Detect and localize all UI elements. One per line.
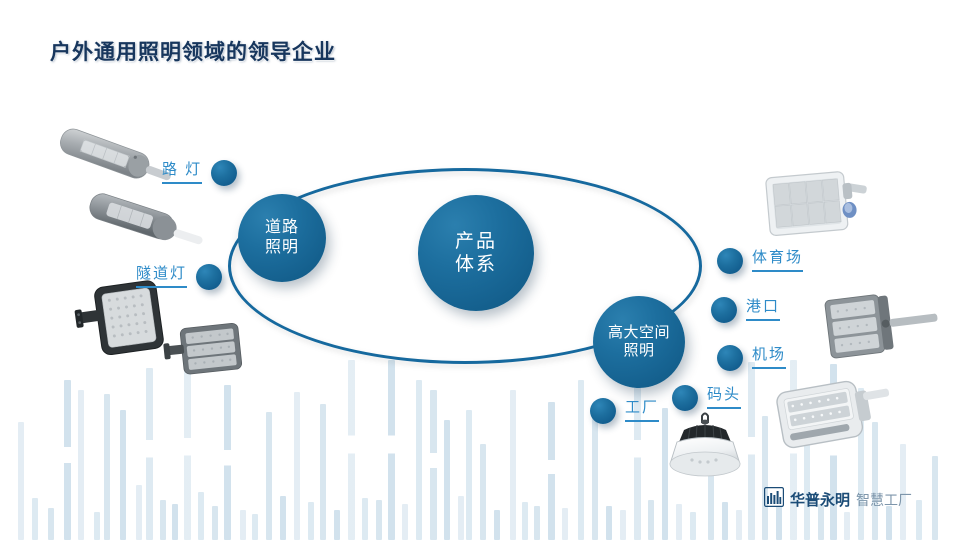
decorative-bar xyxy=(534,506,540,540)
logo-sub-text: 智慧工厂 xyxy=(856,490,912,510)
bullet-dot-icon xyxy=(711,297,737,323)
bullet-dot-icon xyxy=(196,264,222,290)
decorative-bar xyxy=(376,500,382,540)
decorative-bar xyxy=(872,422,878,540)
decorative-bar xyxy=(722,502,728,540)
decorative-bar xyxy=(676,504,682,540)
decorative-bar xyxy=(402,504,408,540)
bullet-label-street-light: 路 灯 xyxy=(162,162,202,184)
decorative-bar xyxy=(522,502,528,540)
decorative-bar xyxy=(494,510,500,540)
bullet-dot-icon xyxy=(211,160,237,186)
product-tunnel-light-small xyxy=(160,318,256,380)
product-factory-highbay-lamp xyxy=(650,408,760,500)
decorative-bar xyxy=(916,500,922,540)
decorative-bar xyxy=(762,416,768,540)
decorative-bar xyxy=(362,498,368,540)
bullet-factory[interactable]: 工厂 xyxy=(590,398,659,424)
bullet-label-port: 港口 xyxy=(746,299,780,321)
decorative-bar xyxy=(606,506,612,540)
hub-product-system[interactable]: 产品 体系 xyxy=(418,195,534,311)
bullet-dock[interactable]: 码头 xyxy=(672,385,741,411)
hub-product-system-line2: 体系 xyxy=(455,253,497,276)
bullet-label-stadium: 体育场 xyxy=(752,250,803,272)
product-street-lamp-lower xyxy=(80,192,210,262)
decorative-bar xyxy=(578,380,584,540)
product-street-lamp-upper xyxy=(48,128,178,198)
decorative-bar xyxy=(458,496,464,540)
decorative-bar xyxy=(198,492,204,540)
bullet-label-factory: 工厂 xyxy=(625,400,659,422)
brand-logo: 华普永明 智慧工厂 xyxy=(764,487,912,512)
decorative-bar xyxy=(48,508,54,540)
decorative-bar xyxy=(932,456,938,540)
slide-canvas: 户外通用照明领域的领导企业 xyxy=(0,0,960,540)
decorative-bar xyxy=(146,368,153,540)
decorative-bar xyxy=(334,510,340,540)
decorative-bar xyxy=(444,420,450,540)
hub-high-space-lighting[interactable]: 高大空间 照明 xyxy=(593,296,685,388)
decorative-bar xyxy=(160,500,166,540)
decorative-bar xyxy=(858,388,864,540)
decorative-bar xyxy=(748,362,755,540)
decorative-bar xyxy=(78,390,84,540)
decorative-bar xyxy=(64,380,71,540)
decorative-bar xyxy=(662,408,668,540)
bullet-label-tunnel-light: 隧道灯 xyxy=(136,266,187,288)
product-port-flood-light xyxy=(818,288,948,364)
decorative-bar xyxy=(184,364,191,540)
decorative-bar xyxy=(466,410,472,540)
decorative-bar xyxy=(240,510,246,540)
decorative-bar xyxy=(804,394,810,540)
bullet-stadium[interactable]: 体育场 xyxy=(717,248,803,274)
decorative-bar xyxy=(844,512,850,540)
bullet-dot-icon xyxy=(672,385,698,411)
bullet-label-airport: 机场 xyxy=(752,347,786,369)
hub-road-lighting-line2: 照明 xyxy=(265,238,299,258)
decorative-bar xyxy=(348,360,355,540)
decorative-bar xyxy=(592,414,598,540)
decorative-bar xyxy=(430,390,437,540)
bullet-dot-icon xyxy=(717,248,743,274)
product-stadium-flood-light xyxy=(758,166,870,244)
decorative-bar xyxy=(562,508,568,540)
bullet-label-dock: 码头 xyxy=(707,387,741,409)
factory-logo-icon xyxy=(764,487,784,512)
decorative-bar xyxy=(308,502,314,540)
decorative-bar xyxy=(388,360,395,540)
decorative-bar xyxy=(830,364,837,540)
logo-main-text: 华普永明 xyxy=(790,489,850,510)
decorative-bar xyxy=(294,392,300,540)
decorative-bar-chart xyxy=(0,360,960,540)
decorative-bar xyxy=(690,512,696,540)
bullet-tunnel-light[interactable]: 隧道灯 xyxy=(136,264,222,290)
decorative-bar xyxy=(620,510,626,540)
decorative-bar xyxy=(648,500,654,540)
decorative-bar xyxy=(136,485,142,540)
decorative-bar xyxy=(280,496,286,540)
decorative-bar xyxy=(320,404,326,540)
decorative-bar xyxy=(252,514,258,540)
decorative-bar xyxy=(548,402,555,540)
decorative-bar xyxy=(480,444,486,540)
hub-high-space-lighting-line2: 照明 xyxy=(608,342,670,360)
hub-high-space-lighting-line1: 高大空间 xyxy=(608,324,670,342)
bullet-airport[interactable]: 机场 xyxy=(717,345,786,371)
decorative-bar xyxy=(510,390,516,540)
decorative-bar xyxy=(212,506,218,540)
bullet-street-light[interactable]: 路 灯 xyxy=(162,160,237,186)
hub-road-lighting-line1: 道路 xyxy=(265,218,299,238)
decorative-bar xyxy=(172,504,178,540)
decorative-bar xyxy=(32,498,38,540)
decorative-bar xyxy=(94,512,100,540)
page-title: 户外通用照明领域的领导企业 xyxy=(50,36,336,66)
decorative-bar xyxy=(790,360,797,540)
decorative-bar xyxy=(266,412,272,540)
decorative-bar xyxy=(120,410,126,540)
bullet-port[interactable]: 港口 xyxy=(711,297,780,323)
decorative-bar xyxy=(736,510,742,540)
hub-product-system-line1: 产品 xyxy=(455,230,497,253)
decorative-bar xyxy=(416,380,422,540)
hub-road-lighting[interactable]: 道路 照明 xyxy=(238,194,326,282)
bullet-dot-icon xyxy=(717,345,743,371)
decorative-bar xyxy=(18,422,24,540)
decorative-bar xyxy=(224,385,231,540)
bullet-dot-icon xyxy=(590,398,616,424)
decorative-bar xyxy=(104,394,110,540)
decorative-bar xyxy=(708,430,714,540)
product-dock-flood-light xyxy=(772,374,896,456)
decorative-bar xyxy=(634,368,641,540)
